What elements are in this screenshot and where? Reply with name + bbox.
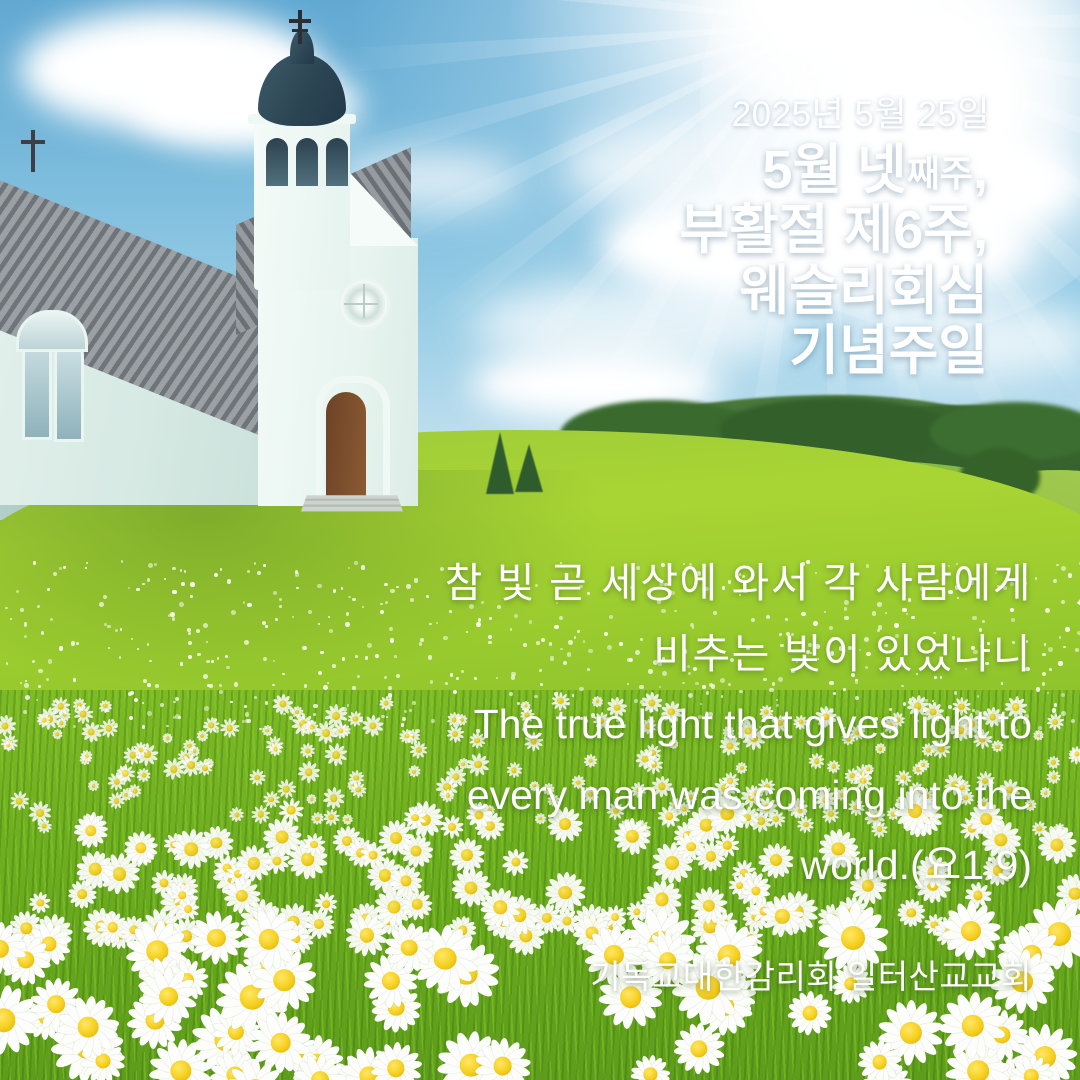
- distant-flower-speck: [225, 655, 228, 658]
- distant-flower-speck: [219, 684, 222, 687]
- daisy-center: [226, 725, 233, 732]
- distant-flower-speck: [147, 711, 152, 716]
- distant-flower-speck: [149, 660, 151, 662]
- daisy-center: [1069, 887, 1080, 900]
- daisy-flower-icon: [1037, 825, 1077, 865]
- distant-flower-speck: [173, 716, 175, 718]
- daisy-center: [138, 747, 143, 752]
- distant-flower-speck: [115, 629, 118, 632]
- daisy-flower-icon: [81, 750, 93, 762]
- distant-flower-speck: [180, 569, 183, 572]
- distant-flower-speck: [172, 567, 175, 570]
- daisy-center: [42, 718, 47, 723]
- distant-flower-speck: [136, 588, 139, 591]
- distant-flower-speck: [142, 702, 144, 704]
- distant-flower-speck: [147, 683, 151, 687]
- distant-flower-speck: [1059, 636, 1061, 638]
- distant-flower-speck: [32, 660, 35, 663]
- gothic-window: [54, 340, 84, 442]
- distant-flower-speck: [130, 691, 134, 695]
- distant-flower-speck: [180, 662, 184, 666]
- daisy-flower-icon: [251, 804, 270, 823]
- distant-flower-speck: [226, 666, 229, 669]
- distant-flower-speck: [214, 573, 218, 577]
- daisy-center: [16, 798, 23, 805]
- daisy-flower-icon: [229, 807, 244, 822]
- distant-flower-speck: [231, 610, 236, 615]
- distant-flower-speck: [1061, 711, 1066, 716]
- daisy-flower-icon: [761, 895, 804, 938]
- distant-flower-speck: [1052, 708, 1056, 712]
- distant-flower-speck: [190, 595, 193, 598]
- daisy-flower-icon: [1069, 746, 1080, 762]
- daisy-flower-icon: [81, 722, 102, 743]
- distant-flower-speck: [262, 621, 266, 625]
- daisy-center: [1044, 791, 1048, 795]
- daisy-center: [184, 906, 192, 914]
- distant-flower-speck: [155, 684, 159, 688]
- daisy-center: [644, 1068, 657, 1080]
- distant-flower-speck: [1044, 643, 1047, 646]
- distant-flower-speck: [254, 696, 256, 698]
- distant-flower-speck: [247, 603, 251, 607]
- distant-flower-speck: [187, 628, 191, 632]
- daisy-flower-icon: [223, 877, 261, 915]
- distant-flower-speck: [197, 653, 200, 656]
- daisy-center: [202, 765, 208, 771]
- daisy-center: [141, 773, 146, 778]
- daisy-flower-icon: [56, 718, 67, 729]
- daisy-center: [188, 761, 196, 769]
- distant-flower-speck: [142, 725, 146, 729]
- daisy-center: [2, 722, 9, 729]
- distant-flower-speck: [172, 617, 175, 620]
- distant-flower-speck: [245, 712, 250, 717]
- distant-flower-speck: [1042, 653, 1045, 656]
- distant-flower-speck: [204, 706, 209, 711]
- daisy-flower-icon: [107, 772, 126, 791]
- distant-flower-speck: [107, 625, 111, 629]
- distant-flower-speck: [63, 566, 66, 569]
- cross-icon: [298, 10, 302, 44]
- distant-flower-speck: [1049, 668, 1052, 671]
- distant-flower-speck: [245, 719, 249, 723]
- daisy-flower-icon: [51, 696, 71, 716]
- daisy-center: [77, 889, 87, 899]
- distant-flower-speck: [6, 662, 8, 664]
- daisy-flower-icon: [9, 791, 29, 811]
- daisy-flower-icon: [171, 829, 212, 870]
- daisy-flower-icon: [182, 739, 196, 753]
- daisy-center: [170, 1060, 191, 1080]
- distant-flower-speck: [181, 582, 185, 586]
- distant-flower-speck: [59, 567, 62, 570]
- daisy-center: [6, 744, 10, 748]
- distant-flower-speck: [1063, 646, 1065, 648]
- daisy-flower-icon: [108, 792, 125, 809]
- daisy-center: [266, 729, 270, 733]
- distant-flower-speck: [1048, 647, 1052, 651]
- daisy-flower-icon: [123, 830, 158, 865]
- daisy-flower-icon: [28, 801, 52, 825]
- daisy-flower-icon: [219, 718, 239, 738]
- distant-flower-speck: [76, 642, 79, 645]
- distant-flower-speck: [73, 678, 77, 682]
- distant-flower-speck: [254, 562, 256, 564]
- daisy-center: [92, 784, 96, 788]
- distant-flower-speck: [46, 678, 48, 680]
- distant-flower-speck: [1065, 627, 1069, 631]
- distant-flower-speck: [20, 608, 24, 612]
- distant-flower-speck: [1058, 661, 1062, 665]
- distant-flower-speck: [179, 602, 184, 607]
- daisy-center: [57, 703, 64, 710]
- church-door: [326, 392, 366, 496]
- distant-flower-speck: [1061, 693, 1065, 697]
- distant-flower-speck: [24, 683, 28, 687]
- daisy-center: [412, 899, 423, 910]
- daisy-flower-icon: [3, 740, 14, 751]
- daisy-flower-icon: [162, 758, 184, 780]
- daisy-flower-icon: [99, 719, 118, 738]
- distant-flower-speck: [47, 588, 50, 591]
- daisy-center: [1051, 775, 1056, 780]
- distant-flower-speck: [38, 669, 43, 674]
- daisy-flower-icon: [162, 733, 173, 744]
- daisy-center: [1053, 719, 1059, 725]
- daisy-flower-icon: [1040, 787, 1051, 798]
- distant-flower-speck: [175, 697, 179, 701]
- distant-flower-speck: [1045, 608, 1050, 613]
- daisy-center: [387, 901, 400, 914]
- distant-flower-speck: [119, 656, 121, 658]
- distant-flower-speck: [209, 684, 213, 688]
- worship-announcement-card: 2025년 5월 25일 5월 넷째주, 부활절 제6주, 웨슬리회심 기념주일…: [0, 0, 1080, 1080]
- distant-flower-speck: [142, 583, 144, 585]
- distant-flower-speck: [1054, 703, 1057, 706]
- distant-flower-speck: [1036, 687, 1040, 691]
- distant-flower-speck: [147, 578, 151, 582]
- distant-flower-speck: [121, 560, 123, 562]
- daisy-flower-icon: [1047, 756, 1060, 769]
- distant-flower-speck: [188, 641, 192, 645]
- daisy-center: [60, 722, 64, 726]
- daisy-center: [209, 722, 215, 728]
- daisy-flower-icon: [203, 717, 220, 734]
- distant-flower-speck: [1061, 566, 1066, 571]
- daisy-flower-icon: [76, 850, 114, 888]
- daisy-center: [36, 809, 44, 817]
- daisy-center: [80, 711, 87, 718]
- distant-flower-speck: [166, 725, 169, 728]
- distant-flower-speck: [190, 582, 194, 586]
- daisy-flower-icon: [897, 898, 926, 927]
- daisy-center: [88, 729, 95, 736]
- daisy-flower-icon: [1046, 770, 1061, 785]
- daisy-flower-icon: [37, 713, 51, 727]
- distant-flower-speck: [24, 635, 27, 638]
- daisy-center: [107, 922, 118, 933]
- conifer-tree-icon: [486, 432, 514, 494]
- distant-flower-speck: [220, 568, 222, 570]
- daisy-center: [255, 775, 261, 781]
- daisy-center: [1051, 838, 1064, 851]
- distant-flower-speck: [53, 572, 57, 576]
- daisy-center: [562, 916, 571, 925]
- church-steps: [301, 495, 403, 511]
- tower-finial: [290, 30, 314, 64]
- daisy-flower-icon: [73, 813, 108, 848]
- daisy-center: [89, 863, 102, 876]
- daisy-flower-icon: [29, 892, 51, 914]
- daisy-center: [114, 798, 120, 804]
- daisy-flower-icon: [73, 704, 93, 724]
- daisy-center: [322, 900, 330, 908]
- distant-flower-speck: [230, 701, 232, 703]
- daisy-center: [200, 734, 204, 738]
- distant-flower-speck: [265, 625, 267, 627]
- distant-flower-speck: [217, 657, 220, 660]
- daisy-flower-icon: [196, 759, 213, 776]
- daisy-center: [185, 842, 199, 856]
- daisy-center: [133, 789, 138, 794]
- distant-flower-speck: [103, 595, 107, 599]
- daisy-center: [56, 732, 60, 736]
- daisy-flower-icon: [99, 699, 112, 712]
- distant-flower-speck: [203, 674, 208, 679]
- distant-flower-speck: [154, 563, 157, 566]
- distant-flower-speck: [196, 629, 200, 633]
- distant-flower-speck: [263, 564, 266, 567]
- cross-icon: [31, 130, 35, 172]
- daisy-center: [1037, 734, 1041, 738]
- conifer-tree-icon: [515, 444, 543, 492]
- distant-flower-speck: [1071, 719, 1075, 723]
- daisy-center: [611, 913, 619, 921]
